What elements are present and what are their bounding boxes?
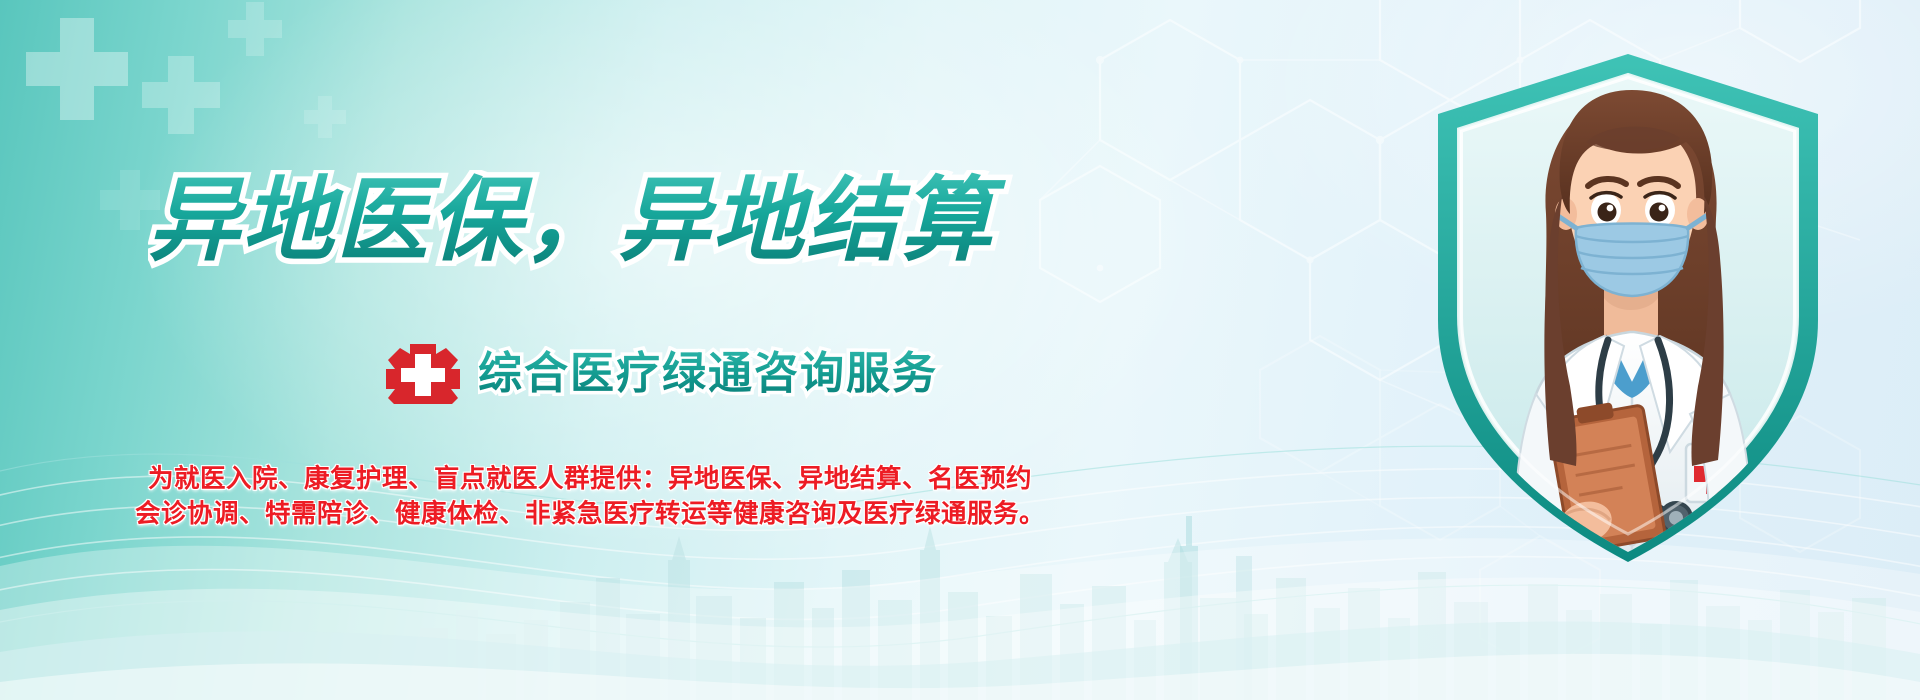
medical-service-banner: 异地医保，异地结算 综合医疗绿通咨询服务 [0, 0, 1920, 700]
page-title: 异地医保，异地结算 [148, 170, 1088, 276]
doctor-shield-graphic [1418, 46, 1838, 576]
page-title-text: 异地医保，异地结算 [148, 170, 1006, 272]
subtitle-row: 综合医疗绿通咨询服务 [386, 342, 998, 404]
red-medical-cross-icon [386, 342, 460, 404]
body-line-1: 为就医入院、康复护理、盲点就医人群提供：异地医保、异地结算、名医预约 [0, 462, 1180, 497]
subtitle: 综合医疗绿通咨询服务 [478, 346, 998, 400]
subtitle-text: 综合医疗绿通咨询服务 [478, 349, 938, 398]
banner-text-block: 异地医保，异地结算 综合医疗绿通咨询服务 [0, 0, 1180, 700]
body-description: 为就医入院、康复护理、盲点就医人群提供：异地医保、异地结算、名医预约 会诊协调、… [0, 462, 1180, 532]
body-line-2: 会诊协调、特需陪诊、健康体检、非紧急医疗转运等健康咨询及医疗绿通服务。 [0, 497, 1180, 532]
